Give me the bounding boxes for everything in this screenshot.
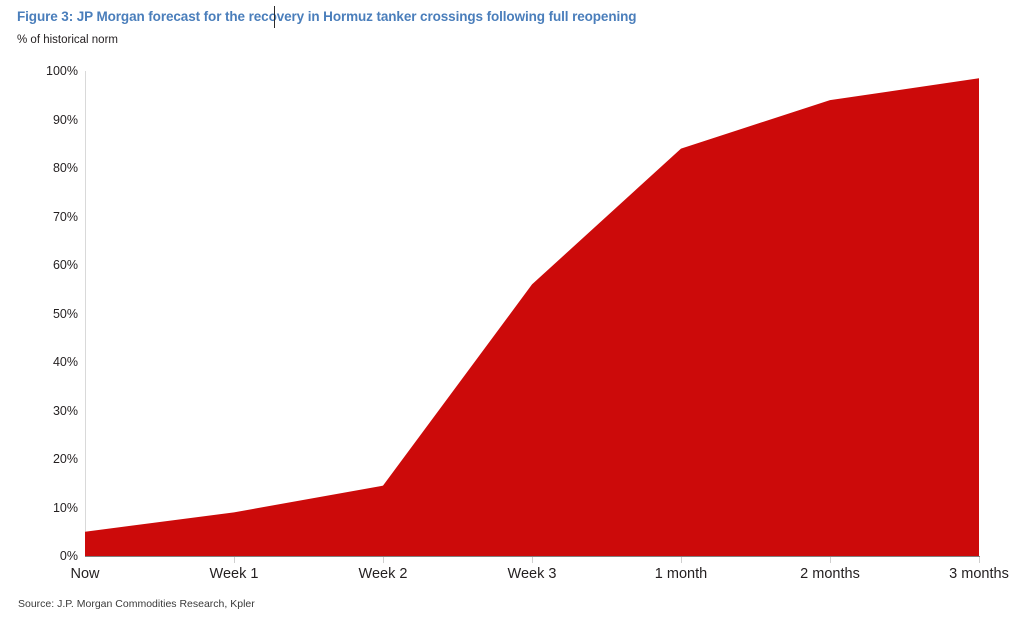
y-axis-tick-label: 100%	[0, 64, 78, 78]
x-axis-tick-mark	[234, 557, 235, 563]
figure-container: Figure 3: JP Morgan forecast for the rec…	[0, 0, 1024, 619]
y-axis-tick-label: 50%	[0, 307, 78, 321]
y-axis-tick-label: 40%	[0, 355, 78, 369]
x-axis-tick-label: Week 2	[359, 566, 408, 582]
y-axis-tick-label: 30%	[0, 404, 78, 418]
y-axis-tick-label: 0%	[0, 549, 78, 563]
y-axis-tick-label: 60%	[0, 258, 78, 272]
source-note: Source: J.P. Morgan Commodities Research…	[18, 598, 255, 610]
page-title: Figure 3: JP Morgan forecast for the rec…	[17, 9, 636, 24]
x-axis-tick-mark	[979, 557, 980, 563]
x-axis-tick-label: Week 3	[508, 566, 557, 582]
y-axis-tick-label: 70%	[0, 210, 78, 224]
x-axis-tick-label: Week 1	[210, 566, 259, 582]
x-axis-tick-mark	[532, 557, 533, 563]
area-series-polygon	[85, 78, 979, 556]
y-axis-tick-label: 20%	[0, 452, 78, 466]
text-cursor-caret	[274, 6, 275, 28]
y-axis-tick-label: 10%	[0, 501, 78, 515]
x-axis-tick-mark	[681, 557, 682, 563]
x-axis-tick-label: 1 month	[655, 566, 707, 582]
y-axis-tick-label: 90%	[0, 113, 78, 127]
area-chart-plot	[85, 71, 979, 557]
x-axis-tick-label: Now	[70, 566, 99, 582]
x-axis-tick-label: 2 months	[800, 566, 860, 582]
x-axis-tick-mark	[383, 557, 384, 563]
x-axis-tick-mark	[830, 557, 831, 563]
y-axis-tick-labels: 0%10%20%30%40%50%60%70%80%90%100%	[0, 0, 78, 619]
x-axis-tick-label: 3 months	[949, 566, 1009, 582]
y-axis-tick-label: 80%	[0, 161, 78, 175]
